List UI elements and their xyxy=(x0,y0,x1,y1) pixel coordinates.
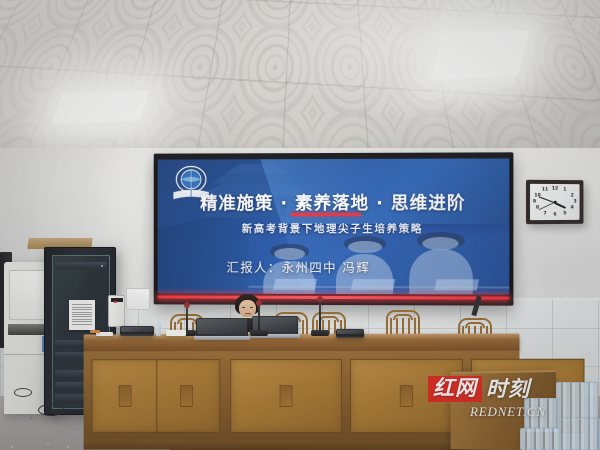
clock-numeral: 5 xyxy=(563,211,566,216)
gooseneck-microphone xyxy=(319,300,321,332)
ceiling xyxy=(0,0,600,152)
slide-title-underline xyxy=(291,213,361,216)
stack-of-papers xyxy=(166,330,186,336)
watermark-brand: 时刻 xyxy=(486,379,530,400)
control-box-led xyxy=(114,301,117,303)
presentation-slide: 精准施策 · 素养落地 · 思维进阶 新高考背景下地理尖子生培养策略 汇报人：永… xyxy=(158,158,510,294)
rack-paper-notice xyxy=(69,300,95,330)
watermark: 红网 时刻 REDNET.CN xyxy=(428,376,588,420)
watermark-url: REDNET.CN xyxy=(428,404,588,420)
marker-pen xyxy=(90,330,100,333)
clock-numeral: 11 xyxy=(542,188,548,193)
floor-cable xyxy=(14,388,32,397)
led-wall-screen[interactable]: 精准施策 · 素养落地 · 思维进阶 新高考背景下地理尖子生培养策略 汇报人：永… xyxy=(154,152,514,305)
slide-title: 精准施策 · 素养落地 · 思维进阶 xyxy=(200,190,465,215)
photo-scene: 精准施策 · 素养落地 · 思维进阶 新高考背景下地理尖子生培养策略 汇报人：永… xyxy=(0,0,600,450)
clock-face: 12 1 2 3 4 5 6 7 8 9 10 11 xyxy=(530,184,580,220)
clock-numeral: 9 xyxy=(533,199,536,204)
wall-clock: 12 1 2 3 4 5 6 7 8 9 10 11 xyxy=(526,180,583,224)
water-bottle xyxy=(156,322,161,336)
clock-numeral: 4 xyxy=(571,206,574,211)
wall-control-box[interactable] xyxy=(108,295,125,327)
watermark-badge: 红网 xyxy=(428,376,482,402)
gooseneck-microphone xyxy=(186,306,188,332)
slide-presenter-line: 汇报人：永州四中 冯辉 xyxy=(226,257,370,276)
clock-second-hand xyxy=(539,202,556,210)
floor-cable xyxy=(38,404,64,416)
bottled-water-case xyxy=(556,418,600,450)
clock-numeral: 7 xyxy=(543,211,546,216)
control-box-display xyxy=(111,298,123,302)
bottled-water-case xyxy=(520,428,560,450)
ceiling-panel-light-left xyxy=(52,90,149,123)
clock-hour-hand xyxy=(555,202,566,209)
clock-numeral: 6 xyxy=(553,213,556,218)
clock-numeral: 3 xyxy=(574,200,577,205)
clock-pivot xyxy=(554,201,557,204)
screen-led-strip xyxy=(158,295,510,299)
slide-subtitle: 新高考背景下地理尖子生培养策略 xyxy=(242,221,423,236)
clock-numeral: 2 xyxy=(571,193,574,198)
stack-of-papers xyxy=(96,332,113,336)
clock-numeral: 1 xyxy=(563,188,566,193)
screen-bezel-bottom xyxy=(154,295,514,305)
clock-numeral: 12 xyxy=(552,186,558,191)
desk-top-surface xyxy=(84,334,520,352)
ceiling-panel-light-right xyxy=(430,30,529,80)
wall-access-panel xyxy=(126,288,150,310)
mic-base-box xyxy=(336,329,364,338)
gooseneck-microphone xyxy=(258,304,260,332)
equipment-box xyxy=(120,326,154,336)
laptop-display[interactable] xyxy=(196,318,248,338)
